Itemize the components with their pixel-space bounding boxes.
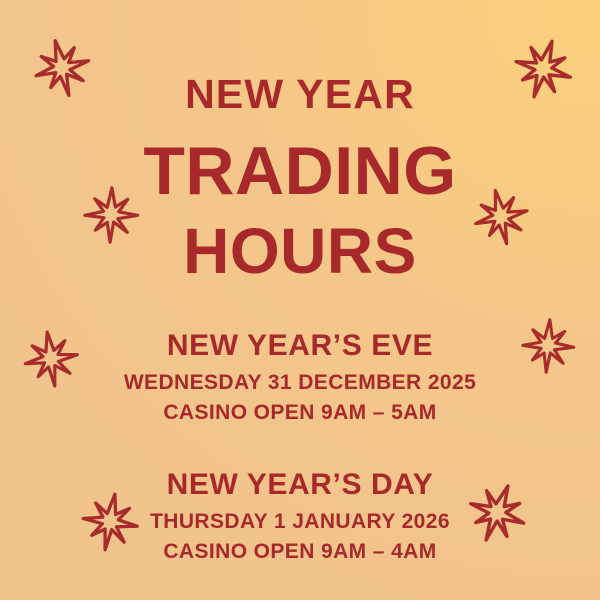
headline-line-trading: TRADING [143,137,456,205]
session-date: WEDNESDAY 31 DECEMBER 2025 [0,370,600,396]
session-title: NEW YEAR’S EVE [0,329,600,363]
session-new-years-day: NEW YEAR’S DAY THURSDAY 1 JANUARY 2026 C… [0,468,600,565]
poster-content: NEW YEAR TRADING HOURS NEW YEAR’S EVE WE… [0,0,600,600]
new-year-trading-hours-poster: NEW YEAR TRADING HOURS NEW YEAR’S EVE WE… [0,0,600,600]
session-title: NEW YEAR’S DAY [0,468,600,502]
session-hours: CASINO OPEN 9AM – 5AM [0,400,600,426]
headline-line-new-year: NEW YEAR [143,74,456,115]
headline-line-hours: HOURS [143,219,456,283]
session-new-years-eve: NEW YEAR’S EVE WEDNESDAY 31 DECEMBER 202… [0,329,600,426]
session-date: THURSDAY 1 JANUARY 2026 [0,509,600,535]
headline-block: NEW YEAR TRADING HOURS [143,0,456,283]
session-hours: CASINO OPEN 9AM – 4AM [0,539,600,565]
sessions-list: NEW YEAR’S EVE WEDNESDAY 31 DECEMBER 202… [0,329,600,565]
